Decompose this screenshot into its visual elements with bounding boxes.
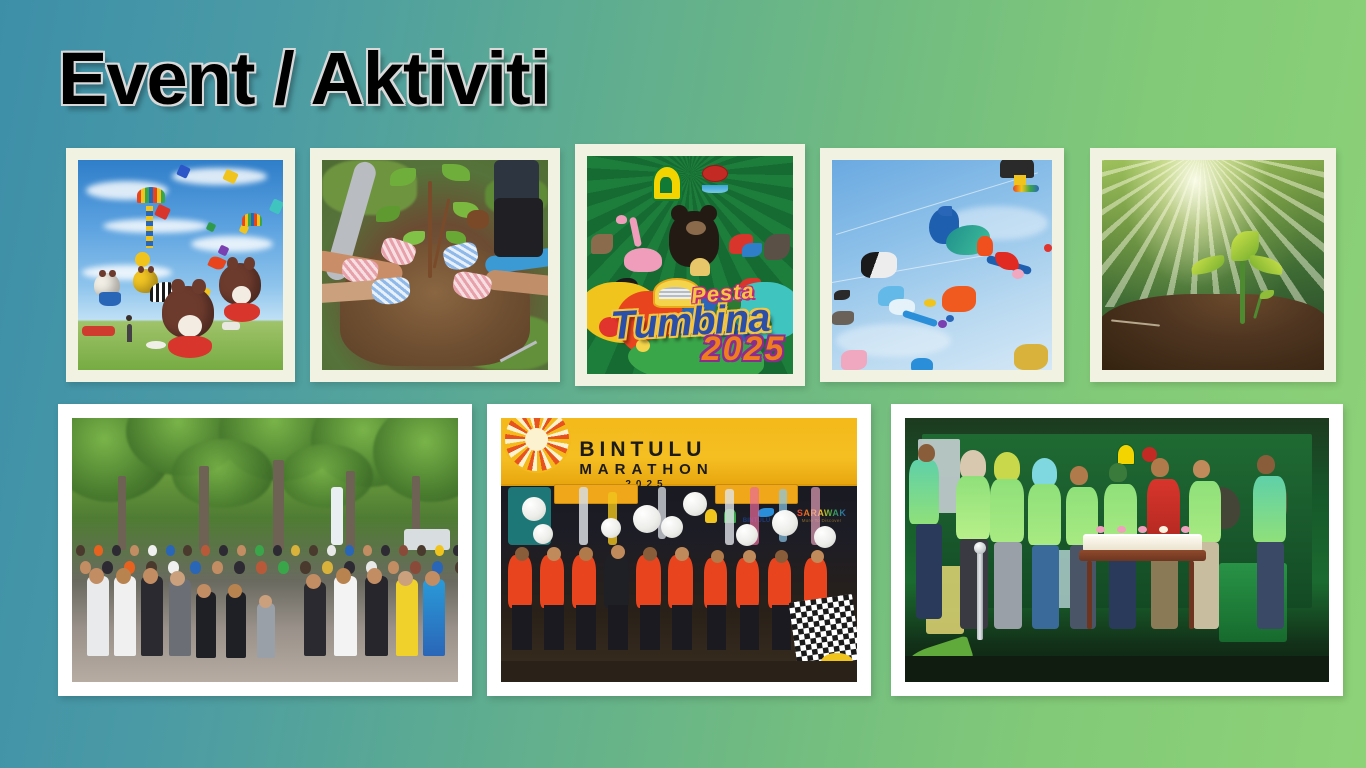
page-title: Event / Aktiviti xyxy=(58,36,549,121)
photo-card-pesta-tumbina-poster[interactable]: Pesta Tumbina 2025 xyxy=(575,144,805,386)
photo-card-cake-cutting-ceremony[interactable] xyxy=(891,404,1343,696)
photo-tree-planting-hands xyxy=(322,160,548,370)
photo-cake-cutting-ceremony xyxy=(905,418,1329,682)
photo-pesta-tumbina-poster: Pesta Tumbina 2025 xyxy=(587,156,793,374)
marathon-banner-text: BINTULU MARATHON 2025 xyxy=(579,439,713,490)
poster-logos xyxy=(587,165,793,201)
photo-card-kite-festival-field[interactable] xyxy=(66,148,295,382)
stanchion-post xyxy=(977,550,983,640)
red-globe-blue-waves-emblem-icon xyxy=(702,165,728,193)
sponsor-crest-icon xyxy=(705,509,717,523)
photo-card-park-group-gathering[interactable] xyxy=(58,404,472,696)
poster-title-line3: 2025 xyxy=(587,330,793,369)
photo-park-group-gathering xyxy=(72,418,458,682)
photo-kite-festival-field xyxy=(78,160,283,370)
photo-kites-in-sky xyxy=(832,160,1052,370)
marathon-title: BINTULU xyxy=(579,439,713,460)
photo-seedling-in-soil xyxy=(1102,160,1324,370)
photo-card-seedling-in-soil[interactable] xyxy=(1090,148,1336,382)
photo-card-tree-planting-hands[interactable] xyxy=(310,148,560,382)
photo-card-bintulu-marathon[interactable]: BINTULU MARATHON 2025 BINTULU PORT SARAW… xyxy=(487,404,871,696)
photo-card-kites-in-sky[interactable] xyxy=(820,148,1064,382)
marathon-subtitle: MARATHON xyxy=(579,462,713,477)
photo-bintulu-marathon: BINTULU MARATHON 2025 BINTULU PORT SARAW… xyxy=(501,418,857,682)
sponsor-sarawak: SARAWAK More To Discover xyxy=(797,508,847,523)
yellow-arch-emblem-icon xyxy=(652,165,682,201)
